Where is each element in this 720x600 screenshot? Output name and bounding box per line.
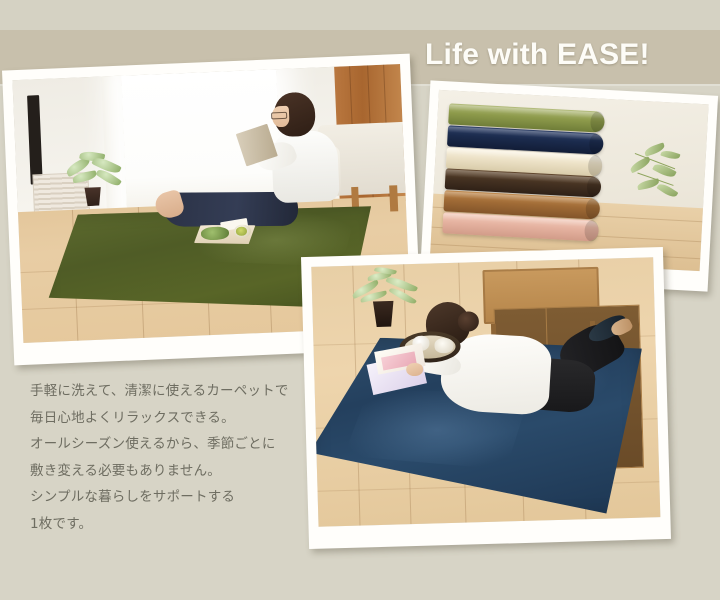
- description-text: 手軽に洗えて、清潔に使えるカーペットで 毎日心地よくリラックスできる。 オールシ…: [30, 378, 330, 537]
- promo-banner-page: Life with EASE!: [0, 0, 720, 600]
- description-line: シンプルな暮らしをサポートする: [30, 484, 330, 511]
- description-line: オールシーズン使えるから、季節ごとに: [30, 431, 330, 458]
- person-hair-bun: [458, 312, 479, 332]
- plant-leaves: [60, 147, 128, 194]
- photo-blanket-stack-image: [430, 90, 709, 271]
- description-line: 毎日心地よくリラックスできる。: [30, 405, 330, 432]
- photo-blue-rug: [301, 247, 671, 549]
- description-line: 手軽に洗えて、清潔に使えるカーペットで: [30, 378, 330, 405]
- plant-branch: [622, 140, 690, 210]
- tea-cup-second: [435, 338, 454, 353]
- eyeglasses-icon: [271, 112, 287, 119]
- page-title: Life with EASE!: [425, 38, 650, 72]
- sofa-leg-right: [390, 185, 399, 212]
- description-line: 1枚です。: [30, 511, 330, 538]
- photo-blue-rug-image: [311, 257, 660, 526]
- description-line: 敷き変える必要もありません。: [30, 458, 330, 485]
- cabinet-foot: [491, 324, 497, 335]
- top-background-strip: [0, 0, 720, 30]
